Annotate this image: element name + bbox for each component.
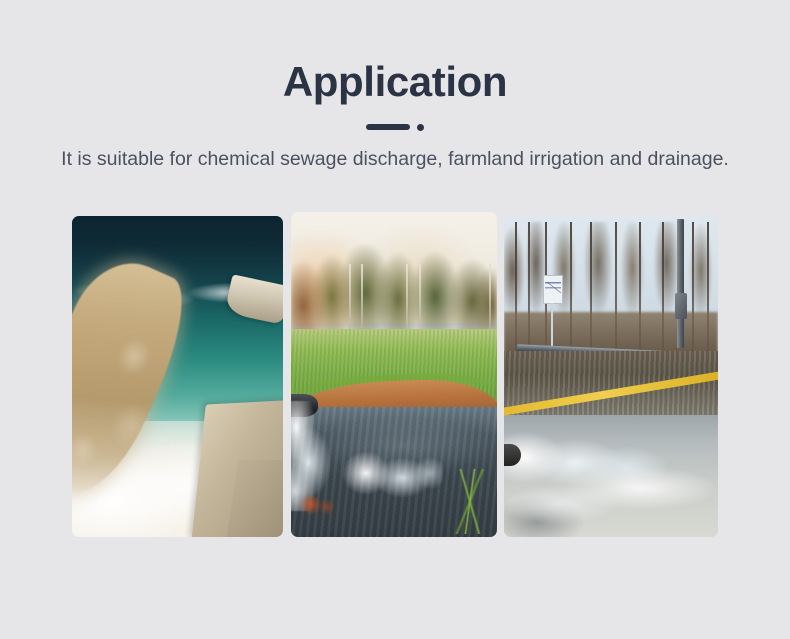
- water-reeds: [448, 469, 493, 534]
- divider-bar-icon: [366, 124, 410, 130]
- section-header: Application It is suitable for chemical …: [0, 0, 790, 172]
- water-splash: [336, 446, 443, 505]
- title-divider: [0, 122, 790, 132]
- pole-box-icon: [675, 293, 687, 319]
- utility-pole-icon: [677, 219, 684, 347]
- water-debris: [297, 485, 342, 524]
- application-image-gallery: [0, 212, 790, 537]
- photo-sewage-discharge: [72, 216, 283, 537]
- application-section: Application It is suitable for chemical …: [0, 0, 790, 639]
- page-title: Application: [0, 58, 790, 105]
- photo-farmland-irrigation-canvas: [291, 212, 497, 537]
- divider-dot-icon: [417, 124, 424, 131]
- photo-farmland-irrigation: [291, 212, 497, 537]
- photo-sewage-discharge-canvas: [72, 216, 283, 537]
- road-sign-icon: [543, 275, 563, 304]
- section-subtitle: It is suitable for chemical sewage disch…: [0, 146, 790, 172]
- photo-road-drainage-canvas: [504, 216, 718, 537]
- drainage-wave-secondary: [508, 460, 718, 531]
- photo-road-drainage: [504, 216, 718, 537]
